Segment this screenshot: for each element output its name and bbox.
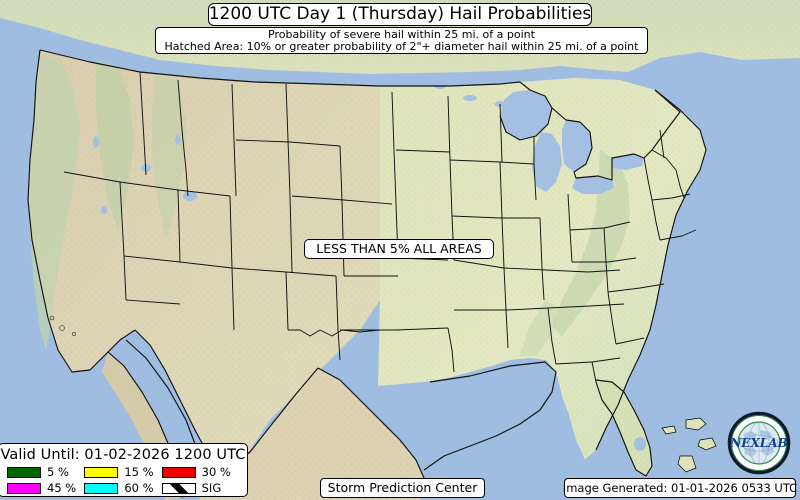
western-lake-d xyxy=(101,206,107,214)
channel-island-b xyxy=(60,326,65,331)
legend-label-sig: SIG xyxy=(202,481,222,495)
page-title-text: 1200 UTC Day 1 (Thursday) Hail Probabili… xyxy=(209,5,592,23)
description-line-1: Probability of severe hail within 25 mi.… xyxy=(268,29,535,41)
legend-swatch-45 xyxy=(7,483,41,494)
risk-area-note-text: LESS THAN 5% ALL AREAS xyxy=(316,242,482,256)
nexlab-logo[interactable]: NEXLAB xyxy=(726,410,792,476)
western-lake-b xyxy=(175,135,181,145)
legend-label-45: 45 % xyxy=(47,481,76,495)
legend-swatch-sig xyxy=(162,483,196,494)
legend-row-top: 5 % 15 % 30 % xyxy=(7,465,239,479)
product-description: Probability of severe hail within 25 mi.… xyxy=(155,27,648,54)
legend-row-bottom: 45 % 60 % SIG xyxy=(7,481,239,495)
channel-island-a xyxy=(50,316,54,320)
great-salt-lake xyxy=(183,191,197,201)
image-generated-text: Image Generated: 01-01-2026 0533 UTC xyxy=(563,482,797,494)
page-title: 1200 UTC Day 1 (Thursday) Hail Probabili… xyxy=(208,3,592,26)
legend-item-sig[interactable]: SIG xyxy=(162,481,239,495)
channel-island-c xyxy=(72,332,76,336)
legend-swatch-30 xyxy=(162,467,196,478)
legend-item-5[interactable]: 5 % xyxy=(7,465,84,479)
legend-item-30[interactable]: 30 % xyxy=(162,465,239,479)
nexlab-wordmark: NEXLAB xyxy=(729,436,787,450)
northern-lake-a xyxy=(463,95,477,101)
source-attribution-text: Storm Prediction Center xyxy=(328,481,478,495)
legend-item-60[interactable]: 60 % xyxy=(84,481,161,495)
legend-valid-until: Valid Until: 01-02-2026 1200 UTC xyxy=(0,447,247,463)
source-attribution: Storm Prediction Center xyxy=(320,478,485,498)
lake-okeechobee xyxy=(634,437,646,451)
probability-legend: Valid Until: 01-02-2026 1200 UTC 5 % 15 … xyxy=(0,443,248,497)
legend-label-5: 5 % xyxy=(47,465,69,479)
image-generated-timestamp: Image Generated: 01-01-2026 0533 UTC xyxy=(564,478,796,498)
legend-swatch-15 xyxy=(84,467,118,478)
legend-label-60: 60 % xyxy=(124,481,153,495)
western-lake-c xyxy=(93,136,99,148)
legend-item-15[interactable]: 15 % xyxy=(84,465,161,479)
risk-area-note: LESS THAN 5% ALL AREAS xyxy=(304,239,494,259)
legend-label-30: 30 % xyxy=(202,465,231,479)
legend-swatch-60 xyxy=(84,483,118,494)
legend-swatch-5 xyxy=(7,467,41,478)
description-line-2: Hatched Area: 10% or greater probability… xyxy=(165,41,639,53)
weather-map-screenshot: 1200 UTC Day 1 (Thursday) Hail Probabili… xyxy=(0,0,800,500)
legend-label-15: 15 % xyxy=(124,465,153,479)
legend-item-45[interactable]: 45 % xyxy=(7,481,84,495)
globe-icon: NEXLAB xyxy=(726,410,792,476)
